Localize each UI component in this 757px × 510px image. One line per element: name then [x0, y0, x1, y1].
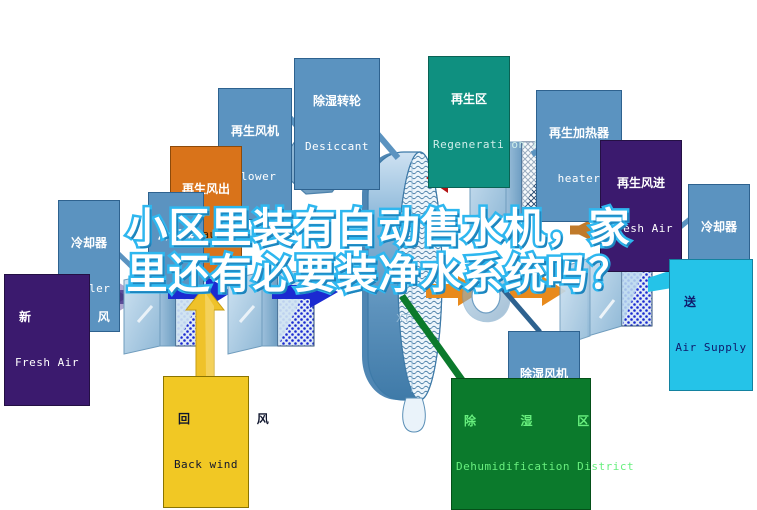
label-regeneration-area-cn: 再生区 — [433, 93, 505, 106]
label-back-wind-cn: 回 风 — [168, 413, 244, 426]
label-desiccant-rotor-cn: 除湿转轮 — [299, 95, 375, 108]
label-process-fresh-air[interactable]: 新 风 Fresh Air — [4, 274, 90, 406]
label-dehumidification-district-en: Dehumidification District — [456, 461, 586, 473]
label-back-wind[interactable]: 回 风 Back wind — [163, 376, 249, 508]
svg-text:XT: XT — [396, 312, 410, 325]
label-process-fresh-air-cn: 新 风 — [9, 311, 85, 324]
label-air-supply-cn: 送 风 — [674, 296, 748, 309]
dry-air-arrow-2 — [510, 276, 566, 306]
label-regeneration-area-en: Regenerati on Area — [433, 139, 505, 151]
label-regeneration-fresh-air-en: Fresh Air — [605, 223, 677, 235]
label-cooler-left-back-cn: 冷却器 — [153, 229, 199, 242]
label-cooler-right-cn: 冷却器 — [693, 221, 745, 234]
label-air-supply[interactable]: 送 风 Air Supply — [669, 259, 753, 391]
label-air-supply-en: Air Supply — [674, 342, 748, 354]
label-cooler-left-front-cn: 冷却器 — [63, 237, 115, 250]
label-dehumidification-district[interactable]: 除 湿 区 Dehumidification District — [451, 378, 591, 510]
dehumidification-blower-unit — [463, 272, 510, 321]
label-regeneration-fresh-air[interactable]: 再生风进 Fresh Air — [600, 140, 682, 272]
diagram-canvas: XT — [0, 0, 757, 488]
label-regeneration-area[interactable]: 再生区 Regenerati on Area — [428, 56, 510, 188]
label-desiccant-rotor[interactable]: 除湿转轮 Desiccant — [294, 58, 380, 190]
label-regeneration-fresh-air-cn: 再生风进 — [605, 177, 677, 190]
label-back-wind-en: Back wind — [168, 459, 244, 471]
label-dehumidification-district-cn: 除 湿 区 — [456, 415, 586, 428]
label-regeneration-heater-cn: 再生加热器 — [541, 127, 617, 140]
label-regeneration-blower-cn: 再生风机 — [223, 125, 287, 138]
label-cooler-left-back[interactable]: 冷却器 — [148, 192, 204, 286]
label-desiccant-rotor-en: Desiccant — [299, 141, 375, 153]
label-process-fresh-air-en: Fresh Air — [9, 357, 85, 369]
cooler-unit-left-front — [228, 272, 314, 354]
